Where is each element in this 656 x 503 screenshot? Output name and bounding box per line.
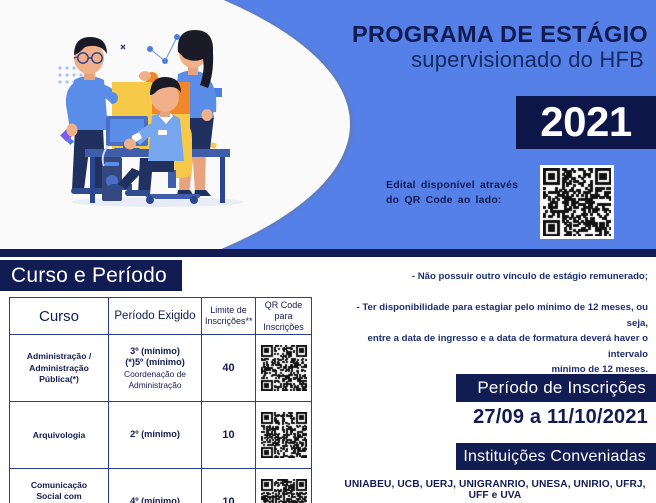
qr-code-inscricao-administracao[interactable]: [256, 335, 312, 402]
cell-curso: Comunicação Social com Habilitação em Jo…: [10, 469, 109, 503]
table-header-row: Curso Período Exigido Limite de Inscriçõ…: [10, 298, 312, 335]
curso-periodo-title-bar: Curso e Período: [0, 260, 182, 291]
program-subtitle: supervisionado do HFB: [352, 48, 644, 73]
poster-heading: PROGRAMA DE ESTÁGIO supervisionado do HF…: [352, 22, 644, 73]
qr-code-inscricao-jornalismo[interactable]: [256, 469, 312, 503]
requirement-no-other-internship: - Não possuir outro vínculo de estágio r…: [356, 270, 648, 284]
qr-code-inscricao-arquivologia[interactable]: [256, 402, 312, 469]
edital-note: Edital disponível através do QR Code ao …: [386, 178, 526, 208]
cell-curso: Arquivologia: [10, 402, 109, 469]
periodo-inscricoes-bar: Período de Inscrições: [456, 374, 656, 402]
cell-limite: 10: [202, 402, 256, 469]
cell-periodo: 2º (mínimo): [109, 402, 202, 469]
instituicoes-list: UNIABEU, UCB, UERJ, UNIGRANRIO, UNESA, U…: [340, 479, 650, 501]
instituicoes-bar: Instituições Conveniadas: [456, 443, 656, 470]
year-badge: 2021: [516, 96, 656, 149]
periodo-inscricoes-dates: 27/09 a 11/10/2021: [356, 406, 648, 429]
cell-limite: 40: [202, 335, 256, 402]
cell-curso: Administração / Administração Pública(*): [10, 335, 109, 402]
table-row: Arquivologia 2º (mínimo) 10: [10, 402, 312, 469]
top-banner: PROGRAMA DE ESTÁGIO supervisionado do HF…: [0, 0, 656, 249]
header-periodo-exigido: Período Exigido: [109, 298, 202, 335]
section-divider: [0, 249, 656, 257]
cell-periodo: 4º (mínimo): [109, 469, 202, 503]
year-label: 2021: [540, 101, 631, 143]
cell-limite: 10: [202, 469, 256, 503]
requirement-availability: - Ter disponibilidade para estagiar pelo…: [346, 300, 648, 378]
header-curso: Curso: [10, 298, 109, 335]
program-title: PROGRAMA DE ESTÁGIO: [352, 22, 644, 47]
cell-periodo: 3º (mínimo) (*)5º (mínimo) Coordenação d…: [109, 335, 202, 402]
table-row: Comunicação Social com Habilitação em Jo…: [10, 469, 312, 503]
qr-code-edital[interactable]: [540, 165, 614, 239]
poster-root: PROGRAMA DE ESTÁGIO supervisionado do HF…: [0, 0, 656, 503]
periodo-inscricoes-label: Período de Inscrições: [477, 378, 656, 398]
edital-line-2: do QR Code ao lado:: [386, 193, 526, 208]
cursos-table: Curso Período Exigido Limite de Inscriçõ…: [9, 297, 312, 503]
teamwork-puzzle-illustration: [28, 18, 288, 233]
curso-periodo-title: Curso e Período: [0, 264, 167, 288]
edital-line-1: Edital disponível através: [386, 178, 526, 193]
table-row: Administração / Administração Pública(*)…: [10, 335, 312, 402]
header-qr-code: QR Code para Inscrições: [256, 298, 312, 335]
instituicoes-label: Instituições Conveniadas: [463, 448, 656, 466]
header-limite-inscricoes: Limite de Inscrições**: [202, 298, 256, 335]
